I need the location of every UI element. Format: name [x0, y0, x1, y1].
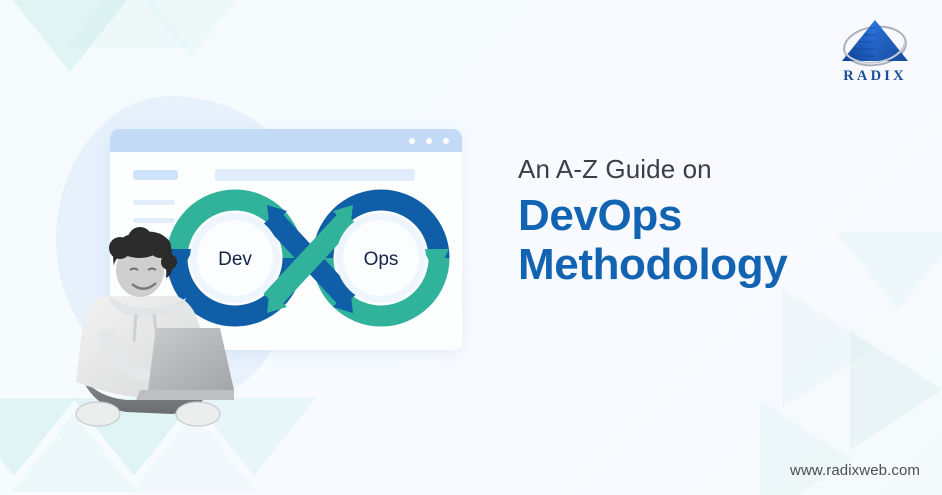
headline-kicker: An A-Z Guide on — [518, 154, 918, 185]
person-svg — [62, 222, 234, 434]
radix-logo[interactable]: RADIX — [826, 14, 924, 90]
window-dot-icon — [409, 138, 415, 144]
website-url[interactable]: www.radixweb.com — [790, 462, 920, 479]
laptop-screen — [148, 328, 234, 390]
page-title-line-1: DevOps — [518, 191, 918, 240]
triangle-decoration — [66, 0, 190, 48]
loop-label-ops: Ops — [364, 249, 399, 270]
page-title: DevOps Methodology — [518, 191, 918, 290]
headline-block: An A-Z Guide on DevOps Methodology — [518, 154, 918, 290]
person-hair-curl — [109, 237, 131, 259]
logo-wordmark: RADIX — [826, 68, 924, 85]
person-with-laptop-photo — [62, 222, 234, 434]
devops-banner: Dev Ops — [0, 0, 942, 495]
person-hair-curl — [161, 254, 177, 270]
radix-pyramid-logo-icon — [826, 14, 924, 70]
laptop-base — [136, 390, 234, 400]
window-dot-icon — [443, 138, 449, 144]
placeholder-bar — [133, 170, 178, 180]
person-drawstring — [134, 314, 136, 342]
triangle-decoration — [760, 400, 852, 495]
triangle-decoration — [782, 288, 874, 408]
window-dot-icon — [426, 138, 432, 144]
triangle-decoration — [128, 0, 252, 58]
triangle-decoration — [850, 330, 942, 450]
placeholder-bar — [215, 169, 415, 181]
triangle-decoration — [8, 0, 132, 72]
person-hair-curl — [128, 227, 152, 251]
page-title-line-2: Methodology — [518, 240, 918, 289]
browser-titlebar — [110, 129, 462, 152]
